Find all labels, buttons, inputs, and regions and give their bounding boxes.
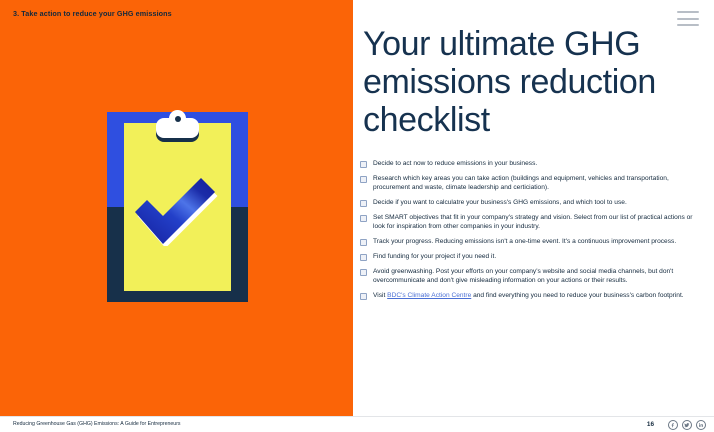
right-content-panel: Your ultimate GHG emissions reduction ch… (353, 0, 714, 416)
checklist-item[interactable]: Set SMART objectives that fit in your co… (360, 213, 710, 232)
footer-document-title: Reducing Greenhouse Gas (GHG) Emissions:… (13, 421, 181, 427)
checkmark-icon (129, 174, 221, 246)
page-number: 16 (647, 421, 654, 428)
checklist-item-text: Set SMART objectives that fit in your co… (373, 213, 703, 232)
checklist: Decide to act now to reduce emissions in… (360, 159, 710, 306)
section-label: 3. Take action to reduce your GHG emissi… (13, 9, 172, 18)
checklist-item-text: Avoid greenwashing. Post your efforts on… (373, 267, 703, 286)
checkbox[interactable] (360, 254, 367, 261)
checklist-item[interactable]: Find funding for your project if you nee… (360, 252, 710, 261)
checkbox[interactable] (360, 293, 367, 300)
checklist-item-text: Track your progress. Reducing emissions … (373, 237, 703, 246)
checkbox[interactable] (360, 200, 367, 207)
checklist-item-text: Visit BDC's Climate Action Centre and fi… (373, 291, 703, 300)
social-share-group (668, 420, 706, 430)
footer-bar: Reducing Greenhouse Gas (GHG) Emissions:… (0, 417, 714, 432)
left-orange-panel: 3. Take action to reduce your GHG emissi… (0, 0, 353, 416)
checkbox[interactable] (360, 161, 367, 168)
facebook-icon[interactable] (668, 420, 678, 430)
page-root: 3. Take action to reduce your GHG emissi… (0, 0, 714, 432)
checkbox[interactable] (360, 215, 367, 222)
checklist-item-text-pre: Visit (373, 292, 387, 299)
checklist-item[interactable]: Decide if you want to calculatre your bu… (360, 198, 710, 207)
checklist-item[interactable]: Avoid greenwashing. Post your efforts on… (360, 267, 710, 286)
page-title: Your ultimate GHG emissions reduction ch… (363, 25, 708, 139)
checklist-item[interactable]: Track your progress. Reducing emissions … (360, 237, 710, 246)
hamburger-line (677, 11, 699, 13)
clipboard-illustration (107, 112, 248, 302)
linkedin-icon[interactable] (696, 420, 706, 430)
checklist-item-with-link[interactable]: Visit BDC's Climate Action Centre and fi… (360, 291, 710, 300)
checklist-item-text-post: and find everything you need to reduce y… (471, 292, 683, 299)
clipboard-clip-hole (175, 116, 181, 122)
checklist-item-text: Research which key areas you can take ac… (373, 174, 703, 193)
checklist-item-text: Decide if you want to calculatre your bu… (373, 198, 703, 207)
hamburger-line (677, 18, 699, 20)
checkbox[interactable] (360, 176, 367, 183)
checkbox[interactable] (360, 239, 367, 246)
checkbox[interactable] (360, 269, 367, 276)
climate-action-centre-link[interactable]: BDC's Climate Action Centre (387, 292, 471, 299)
checklist-item-text: Decide to act now to reduce emissions in… (373, 159, 703, 168)
hamburger-menu-icon[interactable] (677, 11, 699, 26)
twitter-icon[interactable] (682, 420, 692, 430)
checklist-item[interactable]: Research which key areas you can take ac… (360, 174, 710, 193)
checklist-item-text: Find funding for your project if you nee… (373, 252, 703, 261)
checklist-item[interactable]: Decide to act now to reduce emissions in… (360, 159, 710, 168)
